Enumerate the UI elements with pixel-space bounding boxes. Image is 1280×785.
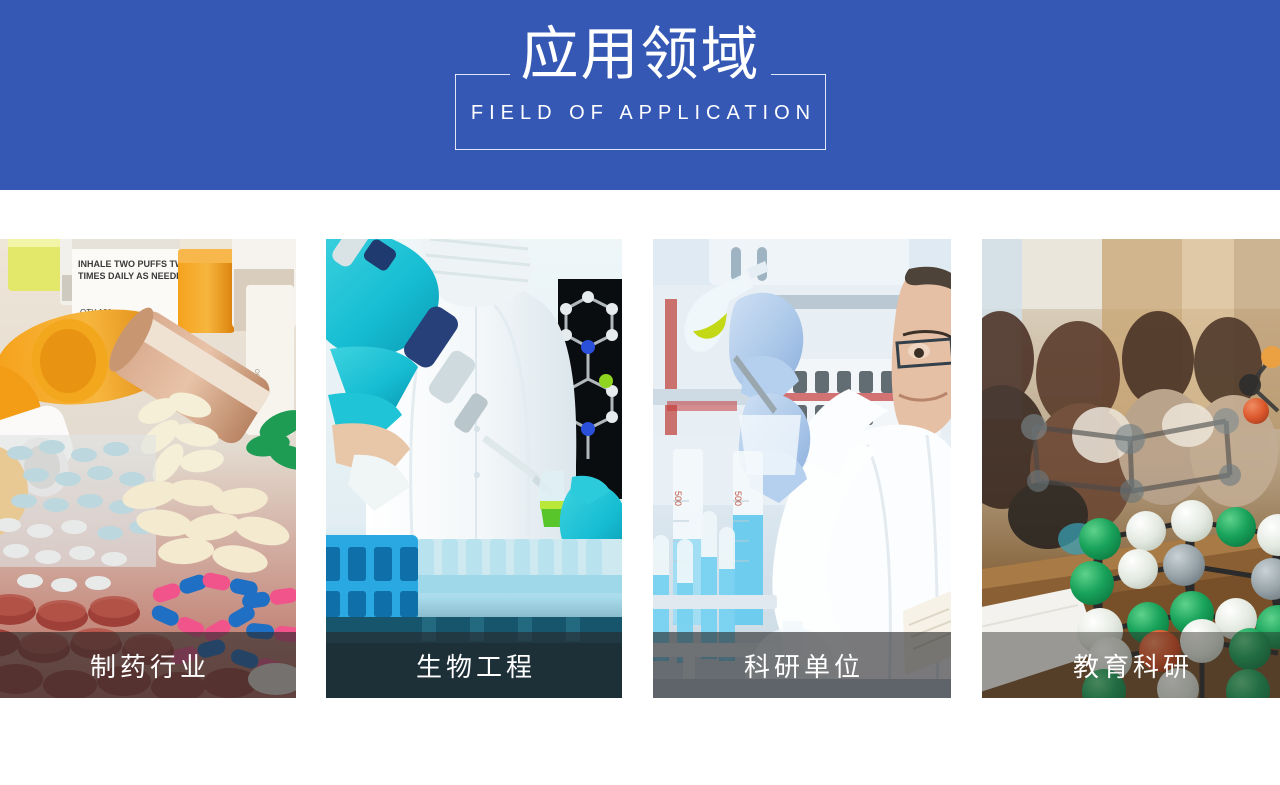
banner-frame: 应用领域 FIELD OF APPLICATION (455, 74, 826, 150)
research-institute-photo: 500 500 (653, 239, 951, 698)
card-caption-bioengineering: 生物工程 (326, 632, 622, 698)
page-title: 应用领域 (455, 22, 826, 88)
card-caption-research-institute: 科研单位 (653, 632, 951, 698)
page-header-banner: 应用领域 FIELD OF APPLICATION (0, 0, 1280, 190)
svg-text:500: 500 (673, 491, 683, 506)
application-card-education[interactable]: 教育科研 (982, 239, 1280, 698)
card-caption-pharmaceutical: 制药行业 (0, 632, 296, 698)
bioengineering-photo (326, 239, 622, 698)
application-card-pharmaceutical[interactable]: INHALE TWO PUFFS TWICE TIMES DAILY AS NE… (0, 239, 296, 698)
application-card-research-institute[interactable]: 500 500 (653, 239, 951, 698)
application-field-card-strip: INHALE TWO PUFFS TWICE TIMES DAILY AS NE… (0, 190, 1280, 785)
pharmaceutical-photo: INHALE TWO PUFFS TWICE TIMES DAILY AS NE… (0, 239, 296, 698)
svg-text:500: 500 (733, 491, 743, 506)
card-caption-education: 教育科研 (982, 632, 1280, 698)
page-subtitle: FIELD OF APPLICATION (455, 100, 826, 126)
application-card-bioengineering[interactable]: 生物工程 (326, 239, 622, 698)
frame-border-bottom (455, 149, 826, 150)
education-photo (982, 239, 1280, 698)
svg-text:TIMES DAILY AS NEEDED: TIMES DAILY AS NEEDED (78, 271, 189, 281)
